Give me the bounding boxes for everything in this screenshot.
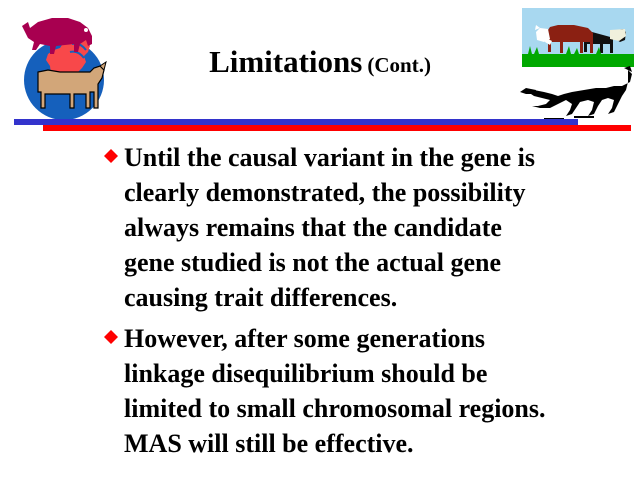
cattle-in-pasture-photo	[522, 8, 634, 67]
list-item: Until the causal variant in the gene is …	[104, 140, 574, 315]
slide-canvas: Limitations(Cont.)	[0, 0, 640, 480]
list-item: However, after some generations linkage …	[104, 321, 574, 461]
slide-title-suffix: (Cont.)	[367, 53, 431, 77]
bullet-line: gene studied is not the actual gene	[124, 245, 574, 280]
bullet-line: linkage disequilibrium should be	[124, 356, 574, 391]
bullet-line: MAS will still be effective.	[124, 426, 574, 461]
slide-body: Until the causal variant in the gene is …	[104, 140, 574, 467]
divider-bar-red	[43, 125, 631, 131]
bullet-line: However, after some generations	[124, 321, 574, 356]
livestock-logo	[8, 4, 120, 122]
bullet-line: clearly demonstrated, the possibility	[124, 175, 574, 210]
slide-title: Limitations(Cont.)	[130, 44, 510, 80]
bullet-line: Until the causal variant in the gene is	[124, 140, 574, 175]
diamond-bullet-icon	[104, 149, 118, 163]
bullet-line: causing trait differences.	[124, 280, 574, 315]
slide-title-main: Limitations	[209, 44, 362, 79]
galloping-horse-silhouette	[520, 66, 636, 124]
bullet-line: limited to small chromosomal regions.	[124, 391, 574, 426]
diamond-bullet-icon	[104, 330, 118, 344]
bullet-line: always remains that the candidate	[124, 210, 574, 245]
